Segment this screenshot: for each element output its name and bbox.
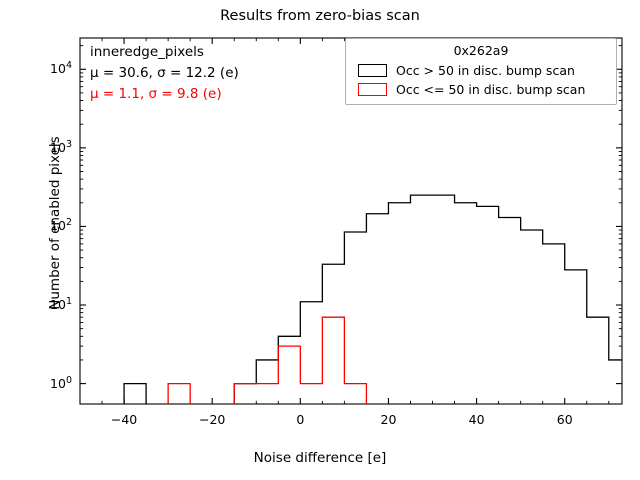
legend-box: 0x262a9 Occ > 50 in disc. bump scanOcc <…	[345, 38, 617, 105]
x-tick-label: 0	[270, 412, 330, 427]
x-tick-label: 40	[447, 412, 507, 427]
legend-entry: Occ <= 50 in disc. bump scan	[351, 80, 611, 99]
y-tick-label: 103	[12, 139, 72, 155]
legend-swatch-icon	[358, 64, 387, 77]
histogram-series	[168, 317, 366, 404]
legend-swatch-icon	[358, 83, 387, 96]
y-tick-label: 104	[12, 60, 72, 76]
x-tick-label: 20	[358, 412, 418, 427]
y-tick-label: 102	[12, 217, 72, 233]
legend-title: 0x262a9	[351, 43, 611, 58]
x-tick-label: −40	[94, 412, 154, 427]
annotation-line: μ = 30.6, σ = 12.2 (e)	[90, 63, 320, 84]
legend-entry-label: Occ > 50 in disc. bump scan	[396, 63, 575, 78]
legend-entry-label: Occ <= 50 in disc. bump scan	[396, 82, 585, 97]
annotation-line: μ = 1.1, σ = 9.8 (e)	[90, 84, 320, 105]
y-tick-label: 101	[12, 296, 72, 312]
x-tick-label: −20	[182, 412, 242, 427]
histogram-series	[124, 195, 631, 404]
x-tick-label: 60	[535, 412, 595, 427]
x-axis-label: Noise difference [e]	[0, 450, 640, 466]
annotation-line: inneredge_pixels	[90, 42, 320, 63]
legend-entries: Occ > 50 in disc. bump scanOcc <= 50 in …	[351, 61, 611, 99]
stats-annotation: inneredge_pixelsμ = 30.6, σ = 12.2 (e)μ …	[90, 42, 320, 105]
y-tick-label: 100	[12, 375, 72, 391]
legend-entry: Occ > 50 in disc. bump scan	[351, 61, 611, 80]
